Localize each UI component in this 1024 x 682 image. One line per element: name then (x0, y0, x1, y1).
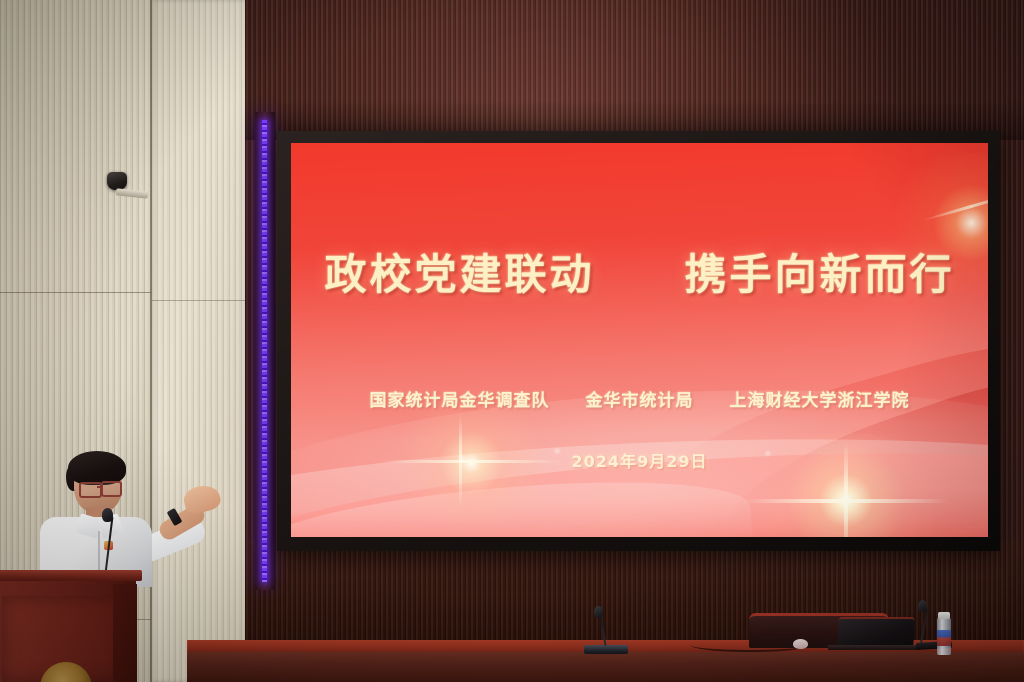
conference-hall-photo: 政校党建联动 携手向新而行 国家统计局金华调查队 金华市统计局 上海财经大学浙江… (0, 0, 1024, 682)
presentation-screen[interactable]: 政校党建联动 携手向新而行 国家统计局金华调查队 金华市统计局 上海财经大学浙江… (291, 143, 988, 537)
microphone-icon[interactable] (102, 508, 113, 522)
microphone-head (594, 606, 603, 618)
mouse-icon[interactable] (793, 639, 808, 649)
glasses-bridge (97, 486, 102, 488)
wall-seam-upper-right (152, 300, 245, 301)
slide-flare-center-spike-h (743, 499, 949, 503)
microphone-head (918, 600, 927, 612)
slide-ribbon-pink (291, 430, 988, 537)
stage-front-panel (187, 652, 1024, 682)
cable (690, 638, 810, 652)
glasses-icon (79, 482, 102, 498)
bottle-cap (938, 612, 950, 619)
slide-flare-top-right-spike (923, 191, 988, 221)
led-strip-light (262, 120, 267, 582)
security-camera-icon (107, 172, 127, 190)
bottle-label (937, 630, 951, 646)
wall-seam-upper (0, 292, 151, 293)
speaker-person (18, 455, 218, 585)
slide-organizations: 国家统计局金华调查队 金华市统计局 上海财经大学浙江学院 (291, 386, 988, 411)
slide-ribbon-light (291, 419, 988, 537)
slide-date: 2024年9月29日 (291, 448, 988, 472)
speaker-hair (68, 451, 126, 485)
slide-title: 政校党建联动 携手向新而行 (291, 241, 988, 302)
podium-side-panel (113, 584, 137, 682)
speaker-hand (181, 482, 222, 516)
podium-top-surface (0, 570, 142, 581)
glasses-lens-right (101, 481, 122, 497)
slide-ribbon-dark-right-2 (713, 343, 988, 537)
laptop-base (828, 645, 920, 650)
microphone-base (584, 645, 628, 654)
slide-ribbon-dark-right (608, 299, 988, 537)
slide-ribbon-light-2 (291, 466, 754, 537)
